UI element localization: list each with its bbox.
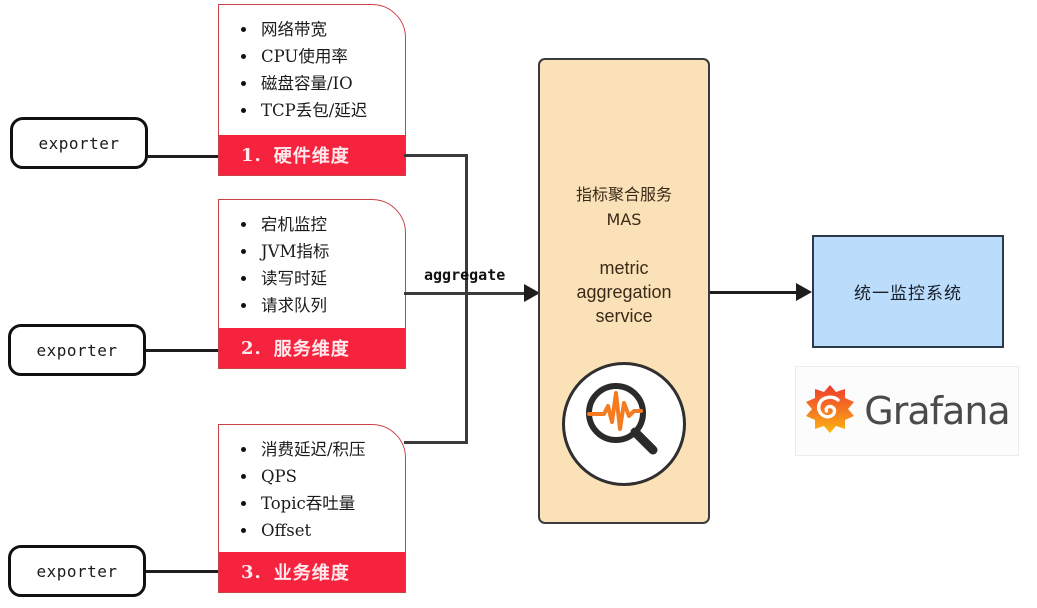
magnifier-waveform-icon	[562, 362, 686, 486]
connector-mas-to-monitor	[710, 291, 800, 294]
list-item: CPU使用率	[235, 43, 405, 70]
card-index: 3.	[241, 562, 262, 583]
diagram-canvas: exporter exporter exporter 网络带宽 CPU使用率 磁…	[0, 0, 1037, 608]
mas-service-box[interactable]: 指标聚合服务 MAS metric aggregation service	[538, 58, 710, 524]
dimension-card-service[interactable]: 宕机监控 JVM指标 读写时延 请求队列 …… 2. 服务维度	[218, 199, 406, 369]
connector-exporter1-to-card1	[148, 155, 220, 158]
dimension-card-business-list: 消费延迟/积压 QPS Topic吞吐量 Offset ……	[219, 425, 405, 566]
connector-merge-bus	[465, 154, 468, 443]
connector-exporter3-to-card3	[146, 570, 220, 573]
dimension-card-service-header: 2. 服务维度	[219, 328, 405, 368]
exporter-box-2[interactable]: exporter	[8, 324, 146, 376]
list-item: 读写时延	[235, 265, 405, 292]
list-item: QPS	[235, 463, 405, 490]
dimension-card-business-header: 3. 业务维度	[219, 552, 405, 592]
connector-bus-to-mas	[465, 292, 527, 295]
card-title: 业务维度	[274, 559, 350, 585]
mas-title: 指标聚合服务 MAS	[540, 182, 708, 232]
unified-monitoring-system-label: 统一监控系统	[854, 279, 962, 304]
grafana-logo-icon	[804, 383, 856, 440]
list-item: 宕机监控	[235, 211, 405, 238]
mas-title-cn: 指标聚合服务	[540, 182, 708, 207]
list-item: TCP丢包/延迟	[235, 97, 405, 124]
mas-subtitle-line1: metric	[540, 256, 708, 280]
unified-monitoring-system-box[interactable]: 统一监控系统	[812, 235, 1004, 348]
card-title: 服务维度	[274, 335, 350, 361]
list-item: 网络带宽	[235, 16, 405, 43]
connector-card2-out	[404, 292, 468, 295]
connector-card1-out	[404, 154, 468, 157]
dimension-card-service-list: 宕机监控 JVM指标 读写时延 请求队列 ……	[219, 200, 405, 341]
mas-subtitle: metric aggregation service	[540, 256, 708, 328]
mas-title-abbr: MAS	[540, 207, 708, 232]
grafana-panel[interactable]: Grafana	[795, 366, 1019, 456]
list-item: Offset	[235, 517, 405, 544]
dimension-card-hardware[interactable]: 网络带宽 CPU使用率 磁盘容量/IO TCP丢包/延迟 …… 1. 硬件维度	[218, 4, 406, 176]
card-index: 1.	[241, 145, 262, 166]
exporter-label: exporter	[38, 134, 119, 153]
grafana-label: Grafana	[864, 389, 1009, 433]
mas-subtitle-line2: aggregation	[540, 280, 708, 304]
exporter-box-3[interactable]: exporter	[8, 545, 146, 597]
dimension-card-hardware-list: 网络带宽 CPU使用率 磁盘容量/IO TCP丢包/延迟 ……	[219, 5, 405, 146]
list-item: 请求队列	[235, 292, 405, 319]
list-item: 消费延迟/积压	[235, 436, 405, 463]
mas-subtitle-line3: service	[540, 304, 708, 328]
exporter-label: exporter	[36, 341, 117, 360]
exporter-box-1[interactable]: exporter	[10, 117, 148, 169]
dimension-card-business[interactable]: 消费延迟/积压 QPS Topic吞吐量 Offset …… 3. 业务维度	[218, 424, 406, 593]
list-item: 磁盘容量/IO	[235, 70, 405, 97]
dimension-card-hardware-header: 1. 硬件维度	[219, 135, 405, 175]
list-item: JVM指标	[235, 238, 405, 265]
exporter-label: exporter	[36, 562, 117, 581]
connector-card3-out	[404, 441, 468, 444]
list-item: Topic吞吐量	[235, 490, 405, 517]
card-title: 硬件维度	[274, 142, 350, 168]
card-index: 2.	[241, 338, 262, 359]
connector-exporter2-to-card2	[146, 349, 220, 352]
arrowhead-to-monitor	[796, 283, 812, 301]
aggregate-edge-label: aggregate	[424, 266, 505, 284]
